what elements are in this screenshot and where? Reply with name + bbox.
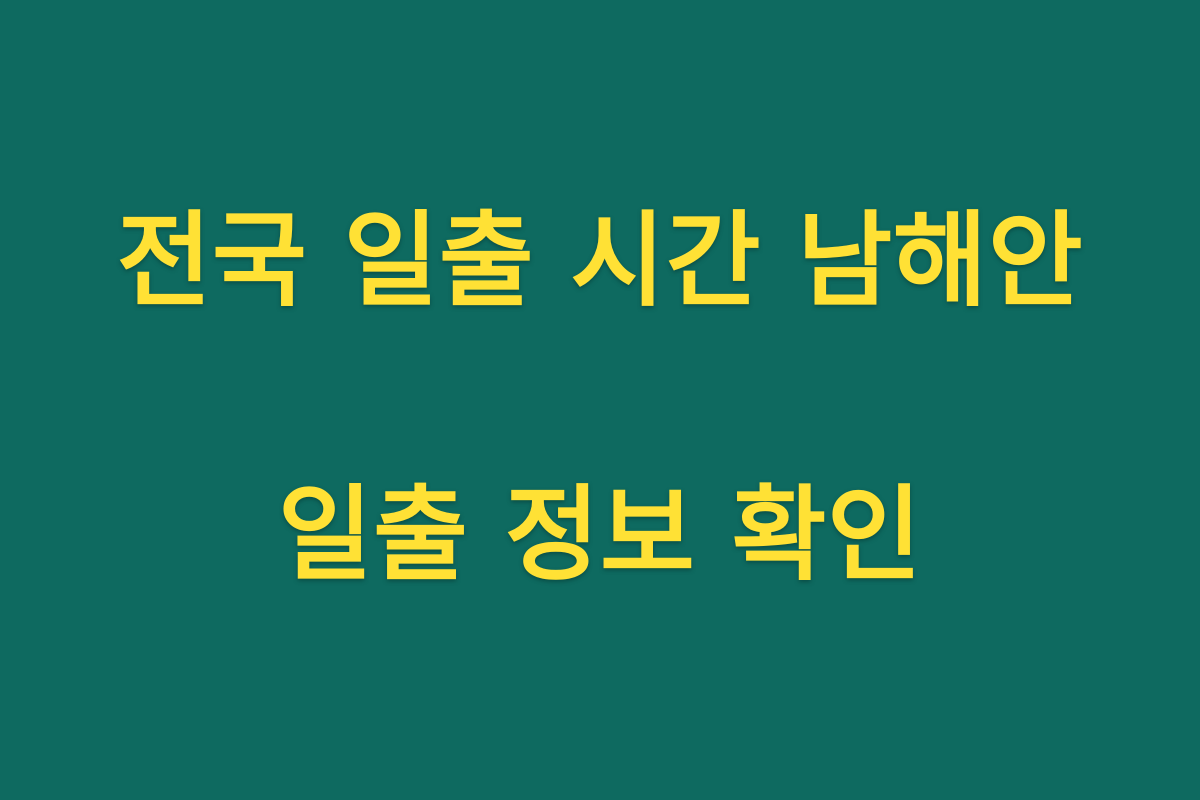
headline-line-1: 전국 일출 시간 남해안 [70,193,1130,330]
headline-line-2: 일출 정보 확인 [70,467,1130,604]
banner-canvas: 전국 일출 시간 남해안 일출 정보 확인 [0,0,1200,800]
headline-text: 전국 일출 시간 남해안 일출 정보 확인 [70,56,1130,741]
